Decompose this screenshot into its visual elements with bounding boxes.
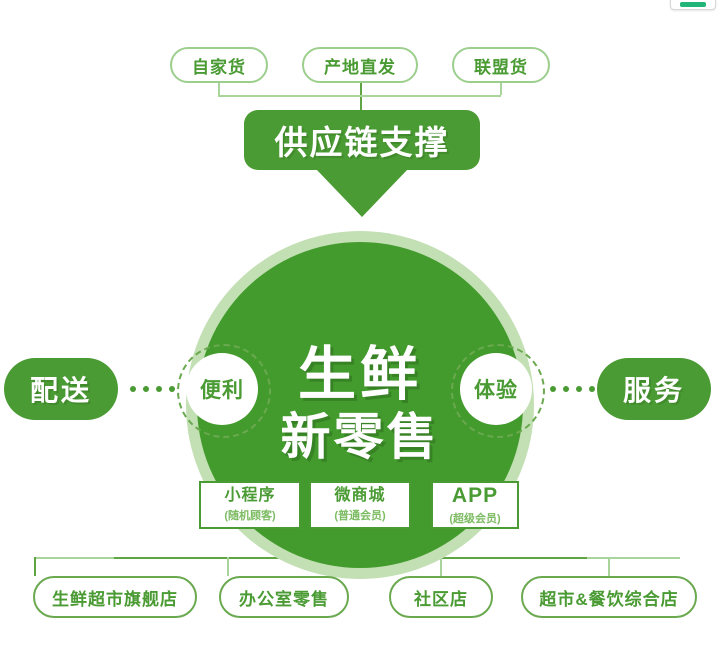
wing-left-label: 配送 xyxy=(30,369,92,409)
source-pill-0-label: 自家货 xyxy=(192,53,246,78)
supply-chain-banner: 供应链支撑 xyxy=(244,110,480,170)
store-pill-2[interactable]: 社区店 xyxy=(389,576,493,618)
banner-arrow-icon xyxy=(316,169,408,217)
source-pill-1-label: 产地直发 xyxy=(324,53,396,78)
attribute-left-label: 便利 xyxy=(200,374,244,404)
store-pill-3[interactable]: 超市&餐饮综合店 xyxy=(521,576,697,618)
wing-capsule-right[interactable]: 服务 xyxy=(597,358,711,420)
wing-right-label: 服务 xyxy=(623,369,685,409)
source-pill-1[interactable]: 产地直发 xyxy=(302,47,418,83)
connector-source-0-drop xyxy=(218,83,220,95)
wing-capsule-left[interactable]: 配送 xyxy=(4,358,118,420)
connector-dots-right xyxy=(550,386,595,392)
core-title-line1: 生鲜 xyxy=(298,345,422,406)
clipped-toolbar-chip[interactable] xyxy=(670,0,716,10)
store-0-label: 生鲜超市旗舰店 xyxy=(52,585,178,610)
attribute-bubble-right[interactable]: 体验 xyxy=(460,353,532,425)
attribute-bubble-left[interactable]: 便利 xyxy=(186,353,258,425)
channel-0-segment: (随机顾客) xyxy=(224,507,275,523)
connector-store-bus-farright xyxy=(587,557,680,559)
store-3-label: 超市&餐饮综合店 xyxy=(539,585,678,610)
supply-chain-banner-label: 供应链支撑 xyxy=(275,116,450,164)
connector-store-0-drop xyxy=(34,557,36,576)
connector-store-3-drop xyxy=(608,557,610,576)
connector-store-bus-farleft xyxy=(34,557,114,559)
attribute-right-label: 体验 xyxy=(474,374,518,404)
channel-box-2[interactable]: APP (超级会员) xyxy=(431,481,519,529)
channel-2-segment: (超级会员) xyxy=(449,510,500,526)
channel-1-name: 微商城 xyxy=(334,487,385,505)
store-1-label: 办公室零售 xyxy=(239,585,329,610)
connector-source-2-drop xyxy=(500,83,502,95)
source-pill-2-label: 联盟货 xyxy=(474,53,528,78)
source-pill-0[interactable]: 自家货 xyxy=(170,47,268,83)
chip-bar-icon xyxy=(680,2,706,7)
channel-0-name: 小程序 xyxy=(224,487,275,505)
connector-dots-left xyxy=(130,386,175,392)
channel-box-1[interactable]: 微商城 (普通会员) xyxy=(309,481,411,529)
store-pill-0[interactable]: 生鲜超市旗舰店 xyxy=(33,576,197,618)
connector-source-bus xyxy=(218,95,501,97)
channel-box-0[interactable]: 小程序 (随机顾客) xyxy=(199,481,301,529)
store-2-label: 社区店 xyxy=(414,585,468,610)
store-pill-1[interactable]: 办公室零售 xyxy=(219,576,349,618)
source-pill-2[interactable]: 联盟货 xyxy=(452,47,550,83)
infographic-canvas: 自家货 产地直发 联盟货 供应链支撑 生鲜 新零售 便利 体验 配送 服务 xyxy=(0,0,720,661)
channel-1-segment: (普通会员) xyxy=(334,507,385,523)
channel-2-name: APP xyxy=(452,484,498,507)
core-title-line2: 新零售 xyxy=(281,410,440,465)
